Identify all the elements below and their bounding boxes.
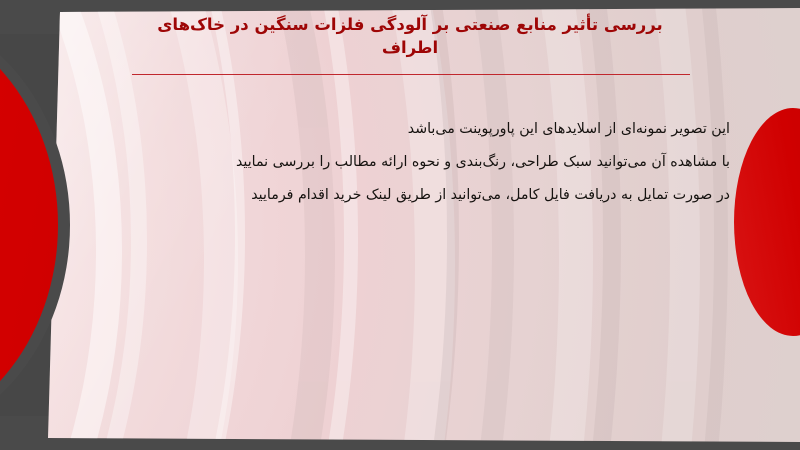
title-divider-rule — [132, 74, 690, 75]
background-arc-pattern — [0, 0, 800, 450]
body-line-2: با مشاهده آن می‌توانید سبک طراحی، رنگ‌بن… — [120, 155, 730, 169]
background-arc — [0, 0, 728, 450]
slide-title-block: بررسی تأثیر منابع صنعتی بر آلودگی فلزات … — [130, 13, 690, 60]
slide-canvas: بررسی تأثیر منابع صنعتی بر آلودگی فلزات … — [0, 0, 800, 450]
slide-body-block: این تصویر نمونه‌ای از اسلایدهای این پاور… — [120, 122, 730, 203]
body-line-3: در صورت تمایل به دریافت فایل کامل، می‌تو… — [120, 188, 730, 202]
page-title: بررسی تأثیر منابع صنعتی بر آلودگی فلزات … — [130, 13, 690, 60]
body-line-1: این تصویر نمونه‌ای از اسلایدهای این پاور… — [120, 122, 730, 136]
background-arc — [0, 0, 593, 450]
background-arc — [0, 0, 700, 450]
slide-content-panel — [0, 0, 800, 450]
background-arc — [0, 0, 514, 450]
background-arc — [0, 0, 621, 450]
